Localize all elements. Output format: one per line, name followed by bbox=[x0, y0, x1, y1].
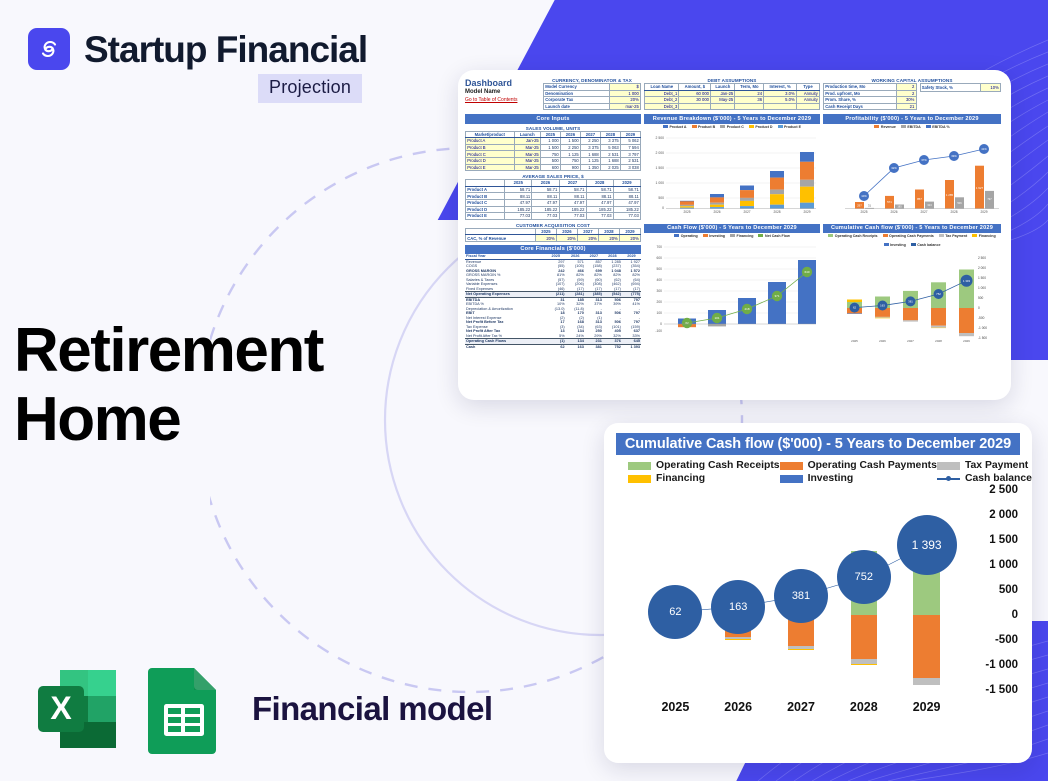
currency-value[interactable]: mar-25 bbox=[609, 103, 640, 110]
table-row: Product A58.7158.7158.7158.7158.71 bbox=[466, 186, 641, 193]
table-row: Product D Mar-255007501 1251 6882 531 bbox=[466, 157, 641, 164]
price-cell: 88.11 bbox=[613, 193, 640, 200]
cac-cell[interactable]: 20% bbox=[619, 235, 640, 242]
svg-text:500: 500 bbox=[658, 196, 664, 200]
svg-text:2025: 2025 bbox=[851, 339, 858, 343]
legend-item: Product A bbox=[663, 125, 687, 129]
wc-label: Production time, Mo bbox=[824, 84, 897, 91]
legend-item: Cash balance bbox=[937, 473, 1032, 484]
legend-swatch bbox=[778, 125, 783, 128]
price-cell: 58.71 bbox=[505, 186, 532, 193]
col-header-year: 2025 bbox=[540, 131, 560, 138]
cash-balance-node: 1 393 bbox=[897, 515, 957, 575]
debt-cell[interactable] bbox=[764, 103, 797, 110]
price-cell: 88.11 bbox=[505, 193, 532, 200]
page-title-line-2: Home bbox=[14, 385, 394, 454]
safety-stock-table: Safety Stock, % 10% bbox=[920, 83, 1001, 92]
y-tick-label: 2 500 bbox=[989, 484, 1018, 496]
volume-cell: 5 063 bbox=[600, 144, 620, 151]
svg-text:62: 62 bbox=[685, 321, 689, 325]
cumulative-cashflow-title-mini: Cumulative Cash flow ($'000) - 5 Years t… bbox=[823, 224, 1001, 233]
svg-text:X: X bbox=[50, 690, 72, 726]
y-tick-label: -1 000 bbox=[985, 659, 1018, 671]
debt-rows: Debt_160 000Jan-25243.0%AnnuityDebt_230 … bbox=[645, 90, 820, 110]
col-header-year: 2026 bbox=[532, 180, 559, 187]
brand-logo: Startup Financial bbox=[28, 28, 367, 70]
table-row: Product E Mar-256009001 3502 0253 038 bbox=[466, 164, 641, 171]
col-header: Launch bbox=[711, 84, 735, 91]
y-tick-label: 1 000 bbox=[989, 559, 1018, 571]
y-tick-label: 500 bbox=[999, 584, 1018, 596]
col-header bbox=[466, 228, 536, 235]
price-cell: 47.97 bbox=[505, 199, 532, 206]
col-header-year: 2026 bbox=[556, 228, 577, 235]
sales-volume-table: Market/productLaunch20252026202720282029… bbox=[465, 131, 641, 172]
volume-cell: 2 250 bbox=[580, 138, 600, 145]
svg-text:31: 31 bbox=[868, 203, 871, 207]
safety-stock-label: Safety Stock, % bbox=[920, 84, 980, 92]
col-header-year: 2025 bbox=[535, 228, 556, 235]
y-tick-label: -500 bbox=[995, 634, 1018, 646]
product-launch[interactable]: Mar-25 bbox=[514, 164, 540, 171]
x-tick-label: 2026 bbox=[724, 700, 752, 714]
debt-cell[interactable]: 24 bbox=[735, 90, 764, 97]
product-launch[interactable]: Mar-25 bbox=[514, 157, 540, 164]
y-axis-labels: 2 5002 0001 5001 0005000-500-1 000-1 500 bbox=[964, 490, 1020, 690]
legend-swatch bbox=[703, 234, 708, 237]
price-cell: 185.22 bbox=[613, 206, 640, 213]
col-header-year: 2028 bbox=[586, 180, 613, 187]
table-row: Debt_230 000May-25365.0%Annuity bbox=[645, 97, 820, 104]
currency-rows: Model Currency $Denomination 1 000Corpor… bbox=[544, 84, 641, 110]
svg-text:32%: 32% bbox=[891, 166, 897, 170]
svg-text:-500: -500 bbox=[978, 316, 985, 320]
col-header: Type bbox=[796, 84, 819, 91]
currency-label: Model Currency bbox=[544, 84, 610, 91]
debt-cell[interactable] bbox=[735, 103, 764, 110]
table-row: CAC, % of Revenue20%20%20%20%20% bbox=[466, 235, 641, 242]
legend-swatch bbox=[749, 125, 754, 128]
svg-text:1 000: 1 000 bbox=[978, 286, 986, 290]
cash-balance-node: 62 bbox=[648, 585, 702, 639]
price-cell: 185.22 bbox=[559, 206, 586, 213]
col-header-year: 2029 bbox=[620, 131, 640, 138]
fin-cell: 752 bbox=[603, 344, 622, 349]
fin-cell: 1 393 bbox=[622, 344, 641, 349]
product-name[interactable]: Product E bbox=[466, 164, 515, 171]
currency-assumptions-table: Model Currency $Denomination 1 000Corpor… bbox=[543, 83, 641, 110]
svg-text:200: 200 bbox=[656, 300, 662, 304]
svg-text:41%: 41% bbox=[981, 147, 987, 151]
product-launch[interactable]: Mar-25 bbox=[514, 151, 540, 158]
volume-cell: 1 000 bbox=[540, 138, 560, 145]
legend-item: EBITDA % bbox=[926, 125, 950, 129]
svg-text:600: 600 bbox=[656, 256, 662, 260]
debt-cell[interactable]: Debt_3 bbox=[645, 103, 679, 110]
svg-text:797: 797 bbox=[987, 197, 992, 201]
volume-cell: 2 025 bbox=[600, 164, 620, 171]
price-cell: 88.11 bbox=[586, 193, 613, 200]
table-row: Denomination 1 000 bbox=[544, 90, 641, 97]
legend-swatch bbox=[628, 475, 651, 483]
svg-text:500: 500 bbox=[978, 296, 984, 300]
sales-volume-header: Market/productLaunch20252026202720282029 bbox=[466, 131, 641, 138]
volume-cell: 1 125 bbox=[580, 157, 600, 164]
cumulative-cashflow-title: Cumulative Cash flow ($'000) - 5 Years t… bbox=[616, 433, 1020, 455]
debt-cell[interactable] bbox=[796, 103, 819, 110]
legend-swatch bbox=[663, 125, 668, 128]
legend-item: Net Cash Flow bbox=[758, 234, 789, 238]
currency-label: Denomination bbox=[544, 90, 610, 97]
cac-cell[interactable]: 20% bbox=[535, 235, 556, 242]
svg-text:2 500: 2 500 bbox=[978, 256, 986, 260]
cash-flow-title: Cash Flow ($'000) - 5 Years to December … bbox=[644, 224, 820, 233]
svg-text:2029: 2029 bbox=[803, 210, 810, 214]
legend-item: Revenue bbox=[874, 125, 895, 129]
volume-cell: 1 688 bbox=[600, 157, 620, 164]
legend-swatch bbox=[911, 243, 916, 246]
cumulative-cashflow-card[interactable]: Cumulative Cash flow ($'000) - 5 Years t… bbox=[604, 423, 1032, 763]
legend-swatch bbox=[674, 234, 679, 237]
product-name[interactable]: Product B bbox=[466, 144, 515, 151]
product-name: Product A bbox=[466, 186, 505, 193]
svg-text:752: 752 bbox=[936, 292, 941, 296]
table-row: Debt_3 bbox=[645, 103, 820, 110]
svg-text:2027: 2027 bbox=[920, 210, 927, 214]
legend-swatch bbox=[937, 462, 960, 470]
product-name: Product B bbox=[466, 193, 505, 200]
fin-cell: 163 bbox=[566, 344, 585, 349]
legend-item: Tax Payment bbox=[937, 460, 1032, 471]
debt-cell[interactable]: Jan-25 bbox=[711, 90, 735, 97]
debt-cell[interactable]: 5.0% bbox=[764, 97, 797, 104]
table-row: Product B Mar-251 5002 2503 3755 0637 59… bbox=[466, 144, 641, 151]
x-tick-label: 2028 bbox=[850, 700, 878, 714]
table-row: Product C47.9747.9747.9747.9747.97 bbox=[466, 199, 641, 206]
price-cell: 77.03 bbox=[532, 213, 559, 220]
table-row: Product B88.1188.1188.1188.1188.11 bbox=[466, 193, 641, 200]
svg-text:700: 700 bbox=[656, 245, 662, 249]
svg-text:218: 218 bbox=[744, 307, 749, 311]
volume-cell: 1 688 bbox=[580, 151, 600, 158]
fin-cell: 62 bbox=[546, 344, 566, 349]
svg-text:1 393: 1 393 bbox=[963, 279, 970, 283]
debt-assumptions-table: Loan NameAmount, $LaunchTerm, MoInterest… bbox=[644, 83, 820, 110]
volume-cell: 3 797 bbox=[620, 151, 640, 158]
svg-text:2025: 2025 bbox=[683, 210, 690, 214]
price-cell: 185.22 bbox=[505, 206, 532, 213]
svg-text:506: 506 bbox=[957, 201, 962, 205]
debt-cell[interactable] bbox=[711, 103, 735, 110]
debt-cell[interactable]: 36 bbox=[735, 97, 764, 104]
brand-subtitle: Projection bbox=[258, 74, 362, 103]
price-cell: 88.11 bbox=[532, 193, 559, 200]
debt-cell[interactable]: May-25 bbox=[711, 97, 735, 104]
price-cell: 58.71 bbox=[613, 186, 640, 193]
legend-swatch bbox=[828, 234, 833, 237]
debt-cell[interactable]: 30 000 bbox=[679, 97, 711, 104]
price-cell: 77.03 bbox=[559, 213, 586, 220]
svg-text:2028: 2028 bbox=[935, 339, 942, 343]
legend-item: Financing bbox=[972, 234, 995, 238]
cac-cell[interactable]: 20% bbox=[598, 235, 619, 242]
col-header bbox=[466, 180, 505, 187]
legend-item: Product C bbox=[720, 125, 744, 129]
svg-text:1 927: 1 927 bbox=[976, 186, 984, 190]
col-header-year: 2028 bbox=[600, 131, 620, 138]
legend-swatch bbox=[937, 475, 960, 483]
legend-swatch bbox=[758, 234, 763, 237]
product-name: Product E bbox=[466, 213, 505, 220]
col-header-year: 2028 bbox=[598, 228, 619, 235]
col-header: Loan Name bbox=[645, 84, 679, 91]
debt-cell[interactable]: Debt_1 bbox=[645, 90, 679, 97]
svg-text:2 000: 2 000 bbox=[978, 266, 986, 270]
table-row: Product D185.22185.22185.22185.22185.22 bbox=[466, 206, 641, 213]
cac-cell[interactable]: 20% bbox=[577, 235, 598, 242]
table-row: Model Currency $ bbox=[544, 84, 641, 91]
cash-balance-node: 163 bbox=[711, 580, 765, 634]
price-cell: 77.03 bbox=[613, 213, 640, 220]
legend-item: Product B bbox=[692, 125, 716, 129]
svg-text:300: 300 bbox=[656, 289, 662, 293]
core-financials-header: Core Financials ($'000) bbox=[465, 245, 641, 254]
svg-text:-1 500: -1 500 bbox=[978, 336, 987, 340]
price-cell: 88.11 bbox=[559, 193, 586, 200]
product-name[interactable]: Product D bbox=[466, 157, 515, 164]
currency-value[interactable]: 20% bbox=[609, 97, 640, 104]
table-row: Product A Jan-251 0001 5002 2503 3755 06… bbox=[466, 138, 641, 145]
debt-cell[interactable]: Debt_2 bbox=[645, 97, 679, 104]
price-cell: 47.97 bbox=[586, 199, 613, 206]
legend-item: Investing bbox=[703, 234, 725, 238]
volume-cell: 1 350 bbox=[580, 164, 600, 171]
svg-text:1 500: 1 500 bbox=[978, 276, 986, 280]
price-cell: 185.22 bbox=[532, 206, 559, 213]
dashboard-column-profitability: WORKING CAPITAL ASSUMPTIONS Production t… bbox=[823, 78, 1001, 392]
table-row: Production time, Mo 2 bbox=[824, 84, 917, 91]
legend-swatch bbox=[720, 125, 725, 128]
table-of-contents-link[interactable]: Go to Table of Contents bbox=[465, 97, 539, 103]
debt-cell[interactable]: 3.0% bbox=[764, 90, 797, 97]
legend-swatch bbox=[926, 125, 931, 128]
price-cell: 58.71 bbox=[559, 186, 586, 193]
avg-price-rows: Product A58.7158.7158.7158.7158.71Produc… bbox=[466, 186, 641, 219]
legend-swatch bbox=[730, 234, 735, 237]
legend-swatch bbox=[883, 234, 888, 237]
svg-text:-1 000: -1 000 bbox=[978, 326, 987, 330]
debt-cell[interactable] bbox=[679, 103, 711, 110]
table-row: Corporate Tax 20% bbox=[544, 97, 641, 104]
cumulative-cashflow-chart-mini: 2 5002 0001 500 1 0005000 -500-1 000-1 5… bbox=[823, 248, 1001, 344]
svg-text:2 500: 2 500 bbox=[656, 136, 665, 140]
wc-value[interactable]: 2 bbox=[896, 90, 916, 97]
debt-cell[interactable]: 60 000 bbox=[679, 90, 711, 97]
y-tick-label: 0 bbox=[1012, 609, 1018, 621]
core-inputs-header: Core Inputs bbox=[465, 114, 641, 123]
table-row: Prom. Share, % 30% bbox=[824, 97, 917, 104]
wc-value[interactable]: 2 bbox=[896, 84, 916, 91]
product-launch[interactable]: Mar-25 bbox=[514, 144, 540, 151]
financial-model-label: Financial model bbox=[252, 690, 492, 728]
debt-cell[interactable]: Annuity bbox=[796, 90, 819, 97]
y-tick-label: 2 000 bbox=[989, 509, 1018, 521]
fin-rows: Fiscal Year20252026202720282029 Revenue2… bbox=[465, 254, 641, 349]
price-cell: 47.97 bbox=[613, 199, 640, 206]
legend-label: Cash balance bbox=[965, 473, 1032, 484]
debt-cell[interactable]: Annuity bbox=[796, 97, 819, 104]
legend-swatch bbox=[939, 234, 944, 237]
price-cell: 185.22 bbox=[586, 206, 613, 213]
page-title-line-1: Retirement bbox=[14, 316, 394, 385]
svg-text:857: 857 bbox=[917, 197, 922, 201]
table-row: Cash621633817521 393 bbox=[465, 344, 641, 349]
product-launch[interactable]: Jan-25 bbox=[514, 138, 540, 145]
profitability-title: Profitability ($'000) - 5 Years to Decem… bbox=[823, 114, 1001, 123]
volume-cell: 5 062 bbox=[620, 138, 640, 145]
svg-text:2 000: 2 000 bbox=[656, 151, 665, 155]
profitability-chart: 297 31 571 185 857 313 1 285 506 bbox=[823, 130, 1001, 216]
col-header-year: 2026 bbox=[560, 131, 580, 138]
legend-item: Investing bbox=[780, 473, 937, 484]
y-tick-label: -1 500 bbox=[985, 684, 1018, 696]
volume-cell: 7 594 bbox=[620, 144, 640, 151]
product-name[interactable]: Product A bbox=[466, 138, 515, 145]
table-row: Product E77.0377.0377.0377.0377.03 bbox=[466, 213, 641, 220]
price-cell: 47.97 bbox=[559, 199, 586, 206]
volume-cell: 1 125 bbox=[560, 151, 580, 158]
page-title: Retirement Home bbox=[14, 316, 394, 455]
price-cell: 77.03 bbox=[505, 213, 532, 220]
svg-text:571: 571 bbox=[887, 200, 892, 204]
volume-cell: 2 250 bbox=[560, 144, 580, 151]
wc-value[interactable]: 30% bbox=[896, 97, 916, 104]
cash-flow-chart: 700600500 400300200 1000-100 62 101 bbox=[644, 239, 820, 335]
legend-item: Operating Cash Receipts bbox=[628, 460, 780, 471]
product-name: Product C bbox=[466, 199, 505, 206]
legend-swatch bbox=[780, 462, 803, 470]
table-row: Launch date mar-25 bbox=[544, 103, 641, 110]
cash-balance-node: 381 bbox=[774, 569, 828, 623]
col-header-year: 2027 bbox=[559, 180, 586, 187]
y-tick-label: 1 500 bbox=[989, 534, 1018, 546]
col-header-year: 2025 bbox=[505, 180, 532, 187]
x-tick-label: 2025 bbox=[661, 700, 689, 714]
currency-value[interactable]: 1 000 bbox=[609, 90, 640, 97]
volume-cell: 500 bbox=[540, 157, 560, 164]
svg-text:2026: 2026 bbox=[879, 339, 886, 343]
cumulative-cashflow-legend: Operating Cash Receipts Operating Cash P… bbox=[616, 455, 1020, 486]
svg-text:2028: 2028 bbox=[950, 210, 957, 214]
legend-swatch bbox=[780, 475, 803, 483]
svg-text:1 500: 1 500 bbox=[656, 166, 665, 170]
svg-text:62: 62 bbox=[853, 305, 857, 309]
table-row: Product C Mar-257501 1251 6882 5313 797 bbox=[466, 151, 641, 158]
cac-cell[interactable]: 20% bbox=[556, 235, 577, 242]
microsoft-excel-icon: X bbox=[30, 662, 124, 756]
legend-item: Tax Payment bbox=[939, 234, 967, 238]
plot-area: 621633817521 393 bbox=[644, 490, 958, 690]
legend-label: Operating Cash Receipts bbox=[656, 460, 780, 471]
volume-cell: 750 bbox=[540, 151, 560, 158]
legend-item: Operating bbox=[674, 234, 697, 238]
svg-text:2026: 2026 bbox=[890, 210, 897, 214]
svg-text:2025: 2025 bbox=[860, 210, 867, 214]
revenue-breakdown-title: Revenue Breakdown ($'000) - 5 Years to D… bbox=[644, 114, 820, 123]
wc-label: Prod. upfront, Mo bbox=[824, 90, 897, 97]
dashboard-column-inputs: Dashboard Model Name Go to Table of Cont… bbox=[465, 78, 641, 392]
legend-item: Financing bbox=[730, 234, 753, 238]
svg-text:0: 0 bbox=[660, 322, 662, 326]
volume-cell: 1 500 bbox=[560, 138, 580, 145]
poster-canvas: Startup Financial Projection Retirement … bbox=[0, 0, 1048, 781]
volume-cell: 2 531 bbox=[600, 151, 620, 158]
safety-stock-value[interactable]: 10% bbox=[980, 84, 1000, 92]
currency-label: Launch date bbox=[544, 103, 610, 110]
wc-rows: Production time, Mo 2Prod. upfront, Mo 2… bbox=[824, 84, 917, 110]
table-row: Cash Receipt Days 21 bbox=[824, 103, 917, 110]
col-header: Term, Mo bbox=[735, 84, 764, 91]
currency-value[interactable]: $ bbox=[609, 84, 640, 91]
brand-name: Startup Financial bbox=[84, 31, 367, 68]
cumulative-cashflow-plot: 2 5002 0001 5001 0005000-500-1 000-1 500… bbox=[616, 490, 1020, 718]
legend-label: Tax Payment bbox=[965, 460, 1028, 471]
debt-header: Loan NameAmount, $LaunchTerm, MoInterest… bbox=[645, 84, 820, 91]
legend-item: Operating Cash Payments bbox=[883, 234, 934, 238]
svg-text:10%: 10% bbox=[861, 194, 867, 198]
volume-cell: 2 531 bbox=[620, 157, 640, 164]
legend-swatch bbox=[874, 125, 879, 128]
file-format-row: X Financial model bbox=[30, 662, 492, 756]
svg-text:1 285: 1 285 bbox=[946, 193, 954, 197]
legend-label: Operating Cash Payments bbox=[808, 460, 937, 471]
product-name[interactable]: Product C bbox=[466, 151, 515, 158]
fin-cell: 381 bbox=[585, 344, 603, 349]
volume-cell: 900 bbox=[560, 164, 580, 171]
svg-text:2029: 2029 bbox=[980, 210, 987, 214]
cac-rows: CAC, % of Revenue20%20%20%20%20% bbox=[466, 235, 641, 242]
currency-section-caption: CURRENCY, DENOMINATOR & TAX bbox=[543, 78, 641, 83]
model-name-label: Model Name bbox=[465, 89, 539, 95]
legend-item: EBITDA bbox=[901, 125, 921, 129]
price-cell: 47.97 bbox=[532, 199, 559, 206]
x-axis-labels: 20252026202720282029 bbox=[644, 698, 958, 720]
google-sheets-icon bbox=[144, 662, 224, 756]
svg-text:39%: 39% bbox=[951, 154, 957, 158]
price-cell: 58.71 bbox=[532, 186, 559, 193]
svg-text:185: 185 bbox=[897, 204, 902, 208]
col-header-year: 2029 bbox=[619, 228, 640, 235]
dashboard-column-revenue: DEBT ASSUMPTIONS Loan NameAmount, $Launc… bbox=[644, 78, 820, 392]
volume-cell: 600 bbox=[540, 164, 560, 171]
e-loop-icon bbox=[28, 28, 70, 70]
wc-value[interactable]: 21 bbox=[896, 103, 916, 110]
dashboard-title: Dashboard bbox=[465, 78, 539, 88]
dashboard-preview-card[interactable]: Dashboard Model Name Go to Table of Cont… bbox=[458, 70, 1011, 400]
x-tick-label: 2027 bbox=[787, 700, 815, 714]
svg-text:0: 0 bbox=[662, 206, 664, 210]
legend-label: Investing bbox=[808, 473, 854, 484]
volume-cell: 3 375 bbox=[600, 138, 620, 145]
cac-label: CAC, % of Revenue bbox=[466, 235, 536, 242]
svg-text:381: 381 bbox=[908, 299, 913, 303]
svg-text:0: 0 bbox=[978, 306, 980, 310]
svg-text:400: 400 bbox=[656, 278, 662, 282]
volume-cell: 750 bbox=[560, 157, 580, 164]
volume-cell: 1 500 bbox=[540, 144, 560, 151]
legend-label: Financing bbox=[656, 473, 705, 484]
svg-text:163: 163 bbox=[880, 303, 885, 307]
